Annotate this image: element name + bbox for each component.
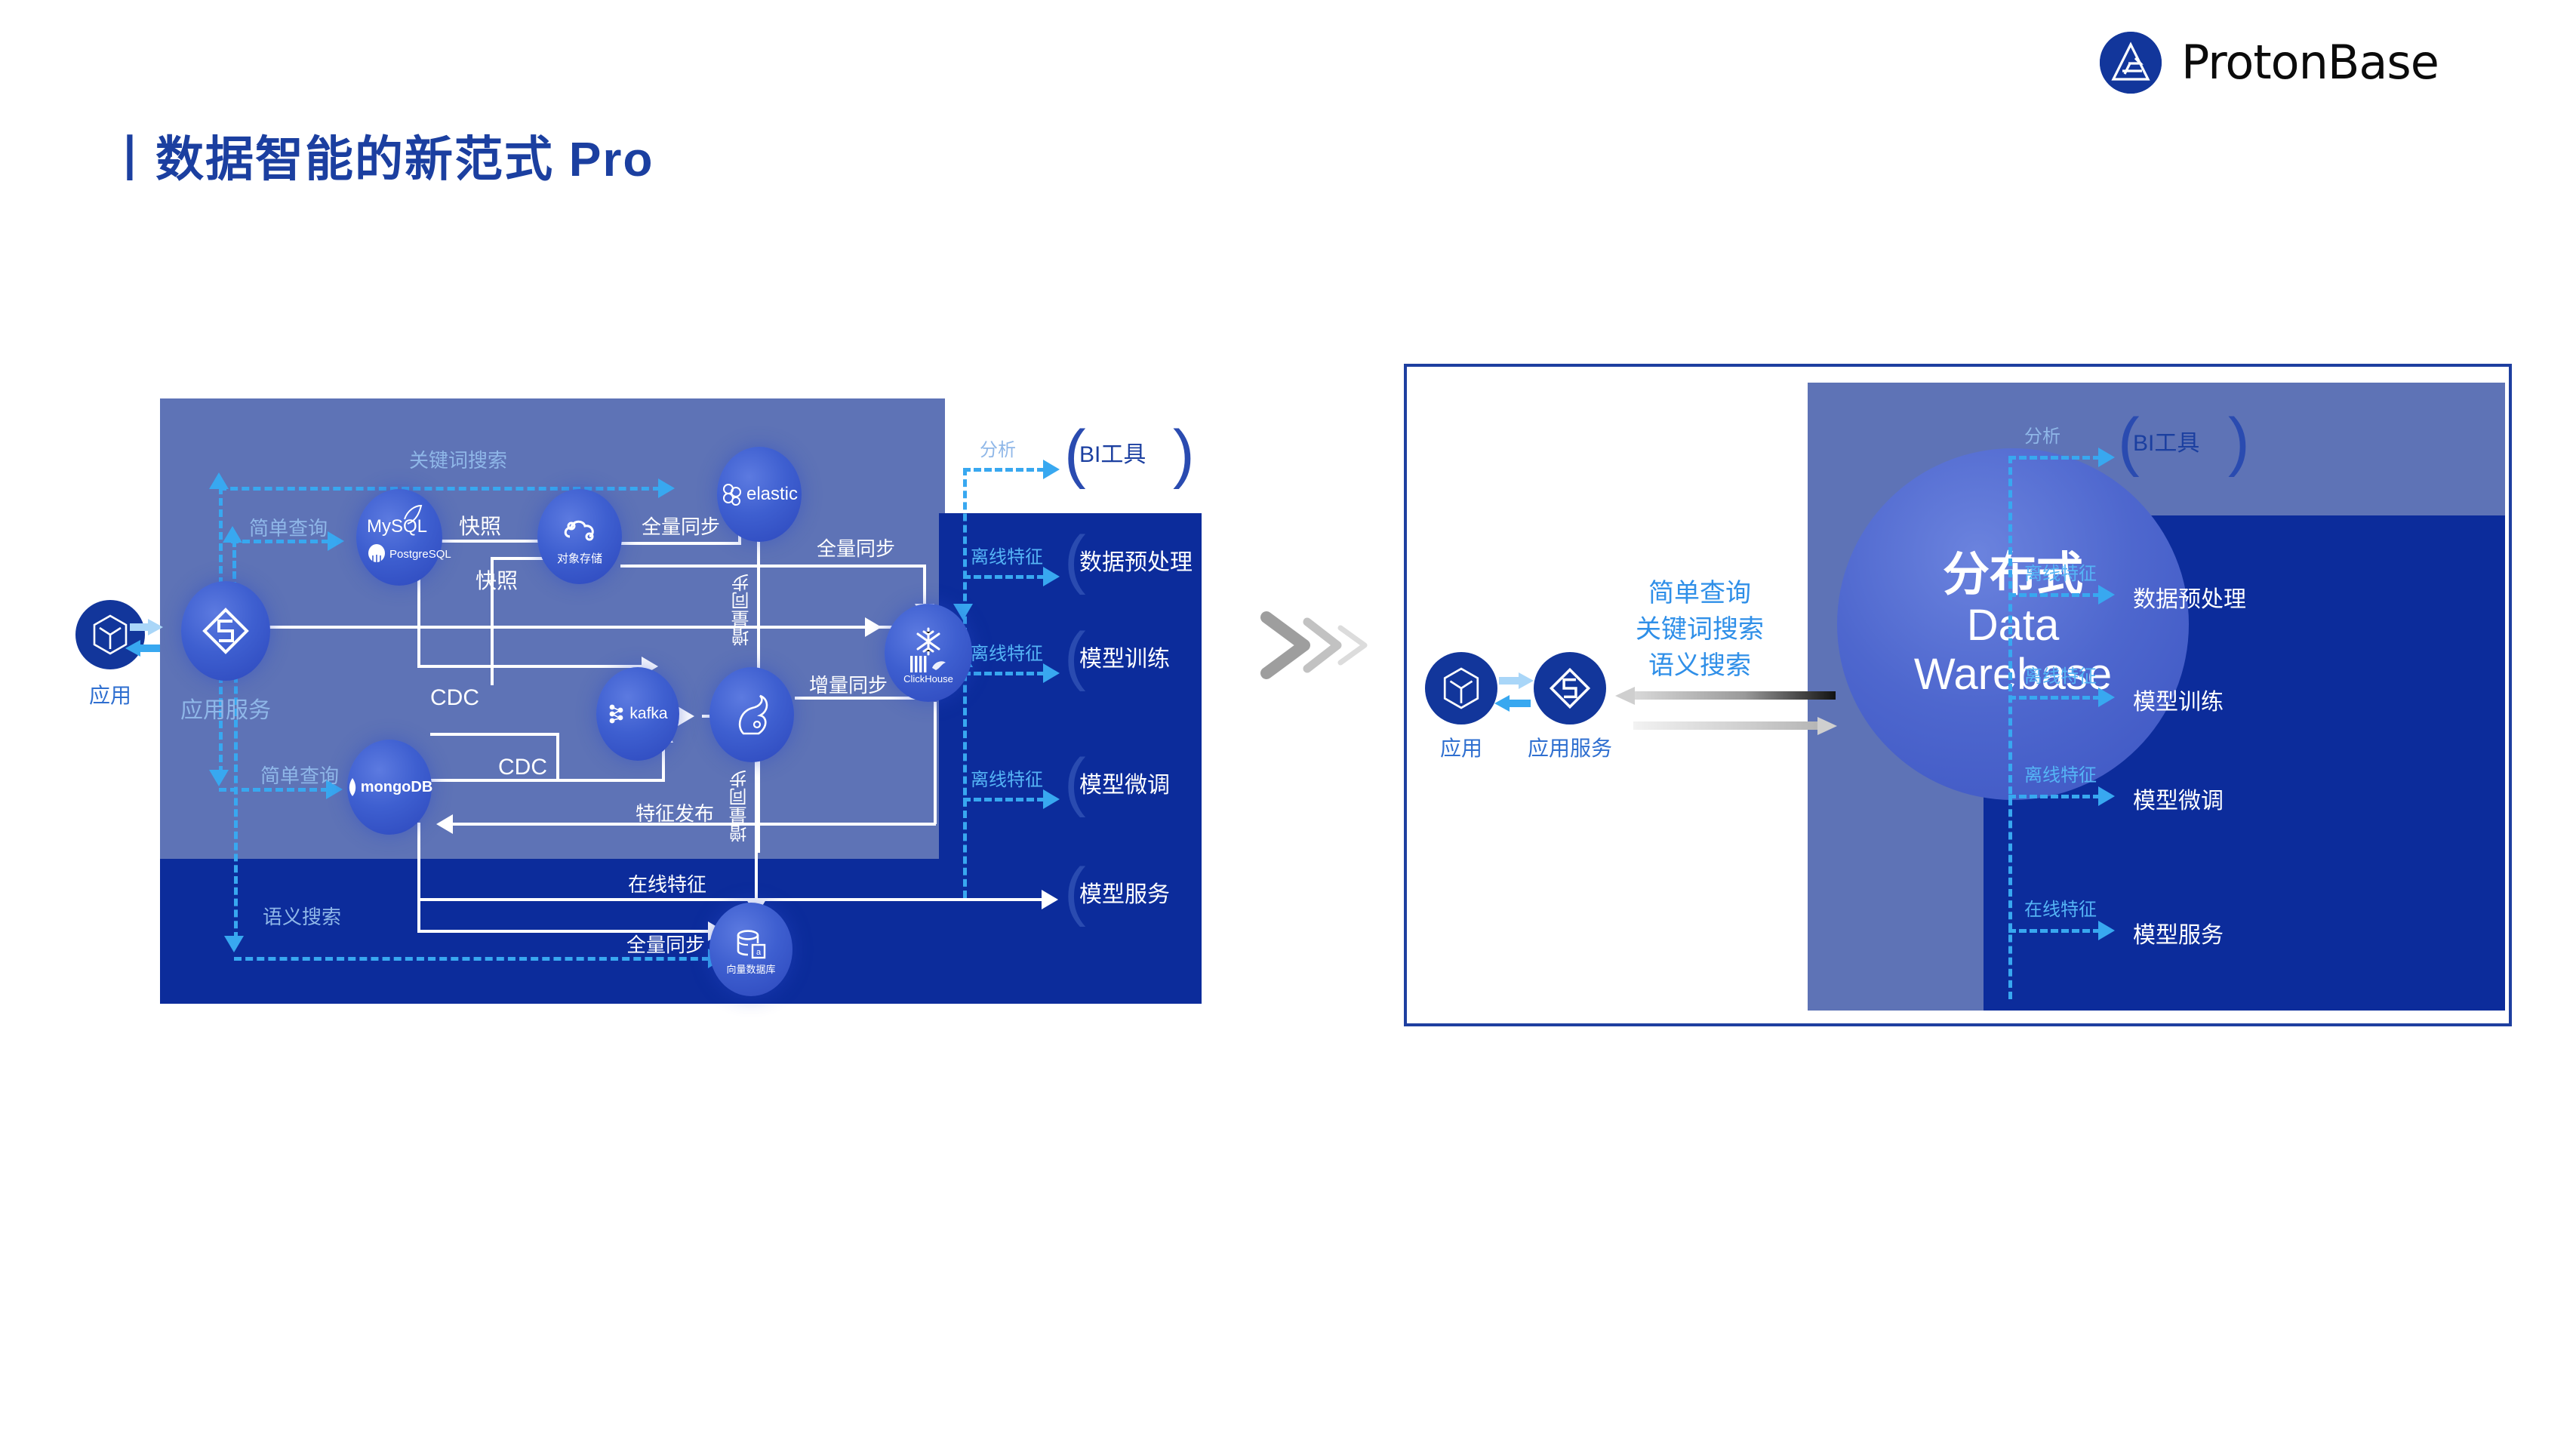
svg-text:a: a [756,948,762,957]
bar-right-app-exchange-right [1499,677,1520,685]
right-consumer-model-serving[interactable]: 模型服务 [2133,916,2224,949]
node-app-left[interactable] [75,600,145,669]
cube-icon [91,614,129,655]
query-capability-2: 关键词搜索 [1636,608,1764,645]
label-incremental-sync-3: 增量同步 [727,770,753,842]
consumer-model-serving[interactable]: 模型服务 [1079,875,1170,909]
mongodb-label: mongoDB [361,779,433,796]
protonbase-triangle-icon [2100,32,2162,94]
elastic-icon [721,483,743,506]
right-dash-online [2008,929,2101,933]
arrow-simple-query-top-up [223,526,242,543]
arrow-app-exchange-left [125,640,140,657]
arrow-keyword-elastic [658,478,675,498]
right-arrow-offline-2 [2098,688,2115,707]
arrow-simple-query-bottom-down [209,770,229,786]
bar-app-exchange-right [130,623,149,631]
right-dash-offline-3 [2008,795,2101,798]
bar-app-exchange-left [139,645,160,652]
line-appservice-to-clickhouse [226,626,936,629]
clickhouse-bars-icon [909,656,928,672]
mysql-label: MySQL [367,516,427,537]
right-label-analysis: 分析 [2024,421,2060,448]
consumer-paren-right-bi: ) [1173,421,1195,486]
right-consumer-bi-tool[interactable]: BI工具 [2133,424,2199,457]
arrow-right-app-exchange-left [1494,695,1510,712]
query-capability-3: 语义搜索 [1648,645,1751,681]
query-capability-1: 简单查询 [1648,572,1751,609]
label-app-service-right: 应用服务 [1519,732,1621,762]
label-simple-query-bottom: 简单查询 [260,761,339,789]
label-app-left: 应用 [75,679,145,709]
bar-right-app-exchange-left [1508,700,1531,707]
double-chevron-right-icon [1253,604,1381,687]
consumer-bi-tool[interactable]: BI工具 [1079,435,1146,469]
line-mongo-down [417,823,420,932]
vector-db-label: 向量数据库 [726,961,775,976]
line-cdc2-h2 [430,779,664,782]
label-app-service-left: 应用服务 [165,691,287,724]
hive-icon [930,657,948,672]
snowflake-icon [912,626,945,657]
right-label-offline-2: 离线特征 [2024,661,2097,688]
right-dash-offline-1 [2008,593,2101,597]
legacy-architecture-diagram: 应用 应用服务 MySQL PostgreSQL 对象存 [0,0,1283,1094]
arrow-simple-query-top [328,531,344,551]
link-service-to-warebase-in [1633,691,1836,700]
label-full-sync-3: 全量同步 [626,930,705,958]
right-arrow-offline-1 [2098,585,2115,605]
cube-icon [1442,667,1481,709]
node-flink[interactable] [709,667,794,762]
right-label-online: 在线特征 [2024,894,2097,921]
right-consumer-model-training[interactable]: 模型训练 [2133,683,2224,716]
line-objstore-ch-h [620,565,926,568]
label-snapshot-2: 快照 [475,565,518,595]
object-storage-caption: 对象存储 [557,550,602,566]
consumer-model-training[interactable]: 模型训练 [1079,640,1170,673]
arrow-service-to-warebase [1817,717,1837,735]
right-label-offline-1: 离线特征 [2024,558,2097,585]
label-semantic-search: 语义搜索 [263,902,341,930]
clickhouse-label: ClickHouse [903,673,953,685]
flink-squirrel-icon [730,691,774,738]
line-cdc1-h [417,665,644,668]
line-mongo-cdc2-v [556,733,559,781]
label-full-sync-2: 全量同步 [817,534,895,561]
node-mongodb[interactable]: mongoDB [347,740,432,835]
app-service-icon [201,606,251,656]
arrow-semantic-down [224,936,244,952]
elephant-icon [367,543,386,563]
node-app-service-left[interactable] [181,581,270,681]
label-simple-query-top: 简单查询 [249,513,328,541]
arrow-right-app-exchange-right [1519,672,1534,689]
consumer-model-finetune[interactable]: 模型微调 [1079,766,1170,799]
dash-offline-2 [963,672,1045,675]
node-kafka[interactable]: kafka [596,667,679,761]
right-consumer-spine [2008,456,2012,999]
right-label-offline-3: 离线特征 [2024,760,2097,786]
line-mysql-down [417,574,420,668]
dash-offline-3 [963,798,1045,801]
label-offline-feature-1: 离线特征 [971,542,1043,568]
arrow-into-clickhouse [865,617,882,637]
arrow-app-exchange-right [148,619,163,635]
elastic-label: elastic [746,484,798,505]
line-objstore-ch-v [923,565,926,608]
dash-analysis [963,468,1045,472]
kafka-label: kafka [629,705,667,723]
node-app-service-right[interactable] [1534,652,1606,724]
core-line-2: Data [1967,601,2060,651]
brand-name: ProtonBase [2181,39,2439,86]
label-full-sync-1: 全量同步 [642,512,720,540]
mongodb-leaf-icon [346,777,359,797]
object-storage-icon [561,514,599,549]
node-vector-db[interactable]: a 向量数据库 [709,903,792,996]
arrow-online-feature [1042,890,1058,909]
label-cdc-1: CDC [430,685,479,711]
distributed-data-warebase-core[interactable]: 分布式 Data Warebase [1837,448,2189,800]
link-service-to-warebase-out [1633,721,1819,730]
dash-offline-1 [963,575,1045,579]
arrow-feature-publish [436,814,453,834]
line-feature-publish-v [934,702,937,824]
vector-db-icon: a [734,928,768,961]
consumer-data-preprocess[interactable]: 数据预处理 [1079,543,1193,577]
label-snapshot-1: 快照 [459,510,501,540]
line-mongo-cdc2-h [430,733,559,736]
arrow-offline-1 [1043,567,1060,586]
right-arrow-analysis [2098,448,2115,467]
dash-ch-consumer-spine [963,468,967,898]
warebase-architecture-diagram: 分布式 Data Warebase 应用 应用服务 简单查询 关键词搜索 语义搜… [1404,364,2512,1026]
right-consumer-data-preprocess[interactable]: 数据预处理 [2133,580,2246,614]
right-paren-right-bi: ) [2228,409,2250,474]
label-offline-feature-3: 离线特征 [971,764,1043,791]
right-arrow-online [2098,921,2115,940]
arrow-kafka-flink [678,706,694,726]
label-incremental-sync-2: 增量同步 [809,670,888,698]
node-mysql-postgres[interactable]: MySQL PostgreSQL [356,489,442,586]
label-offline-feature-2: 离线特征 [971,638,1043,665]
node-object-storage[interactable]: 对象存储 [537,489,622,584]
label-online-feature: 在线特征 [628,869,706,897]
label-keyword-search: 关键词搜索 [409,445,507,473]
node-clickhouse-snowflake-hive[interactable]: ClickHouse [885,604,972,702]
right-consumer-model-finetune[interactable]: 模型微调 [2133,782,2224,815]
right-dash-offline-2 [2008,696,2101,700]
right-dash-analysis [2008,456,2101,460]
label-cdc-2: CDC [498,755,547,780]
line-objstore-elastic-h [620,542,741,545]
label-app-right: 应用 [1425,732,1497,762]
line-flink-vector-v [755,743,758,906]
arrow-offline-2 [1043,663,1060,683]
node-app-right[interactable] [1425,652,1497,724]
arrow-analysis-bi [1043,460,1060,479]
right-arrow-offline-3 [2098,786,2115,806]
label-feature-publish: 特征发布 [636,798,714,826]
brand-logo: ProtonBase [2100,32,2439,94]
label-incremental-sync-1: 增量同步 [729,574,756,646]
app-service-icon [1548,666,1592,710]
arrow-offline-3 [1043,789,1060,809]
line-online-feature [417,898,1044,901]
node-elastic[interactable]: elastic [717,447,802,542]
kafka-icon [608,703,626,724]
label-analysis: 分析 [980,435,1016,461]
arrow-warebase-to-service [1615,687,1635,705]
postgresql-label: PostgreSQL [389,548,451,561]
